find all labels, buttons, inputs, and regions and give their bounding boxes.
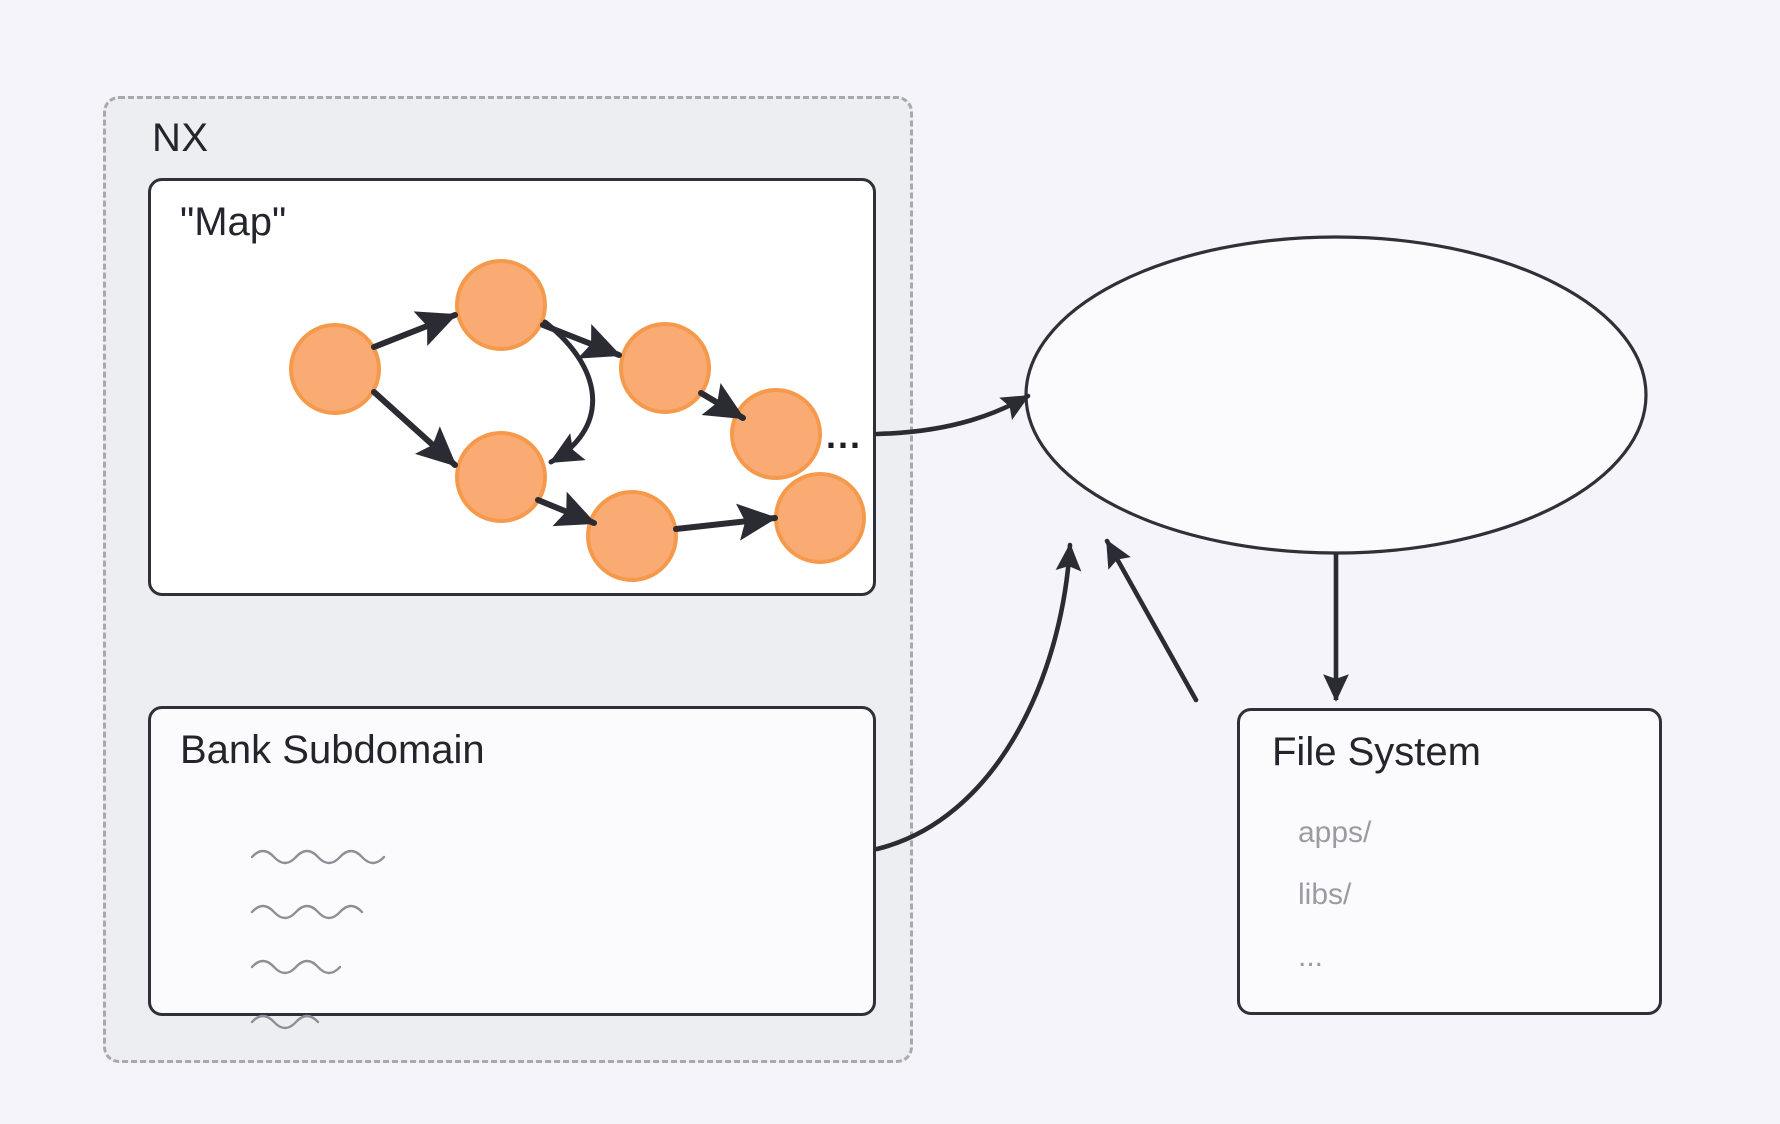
coding-assistant-label: Coding Assistant xyxy=(1026,372,1646,417)
nx-container-label: NX xyxy=(152,116,209,161)
bank-subdomain-title: Bank Subdomain xyxy=(180,728,485,773)
file-system-item: libs/ xyxy=(1298,880,1638,910)
file-system-item: apps/ xyxy=(1298,818,1638,848)
file-system-title: File System xyxy=(1272,730,1481,775)
map-card-title: "Map" xyxy=(180,200,286,245)
map-graph-ellipsis: ... xyxy=(826,418,862,454)
diagram-canvas: NX "Map" Bank Subdomain File System apps… xyxy=(0,0,1780,1124)
file-system-list: apps/ libs/ ... xyxy=(1298,818,1638,1004)
connector-filesystem-to-assistant xyxy=(1107,541,1196,700)
file-system-item: ... xyxy=(1298,942,1638,972)
